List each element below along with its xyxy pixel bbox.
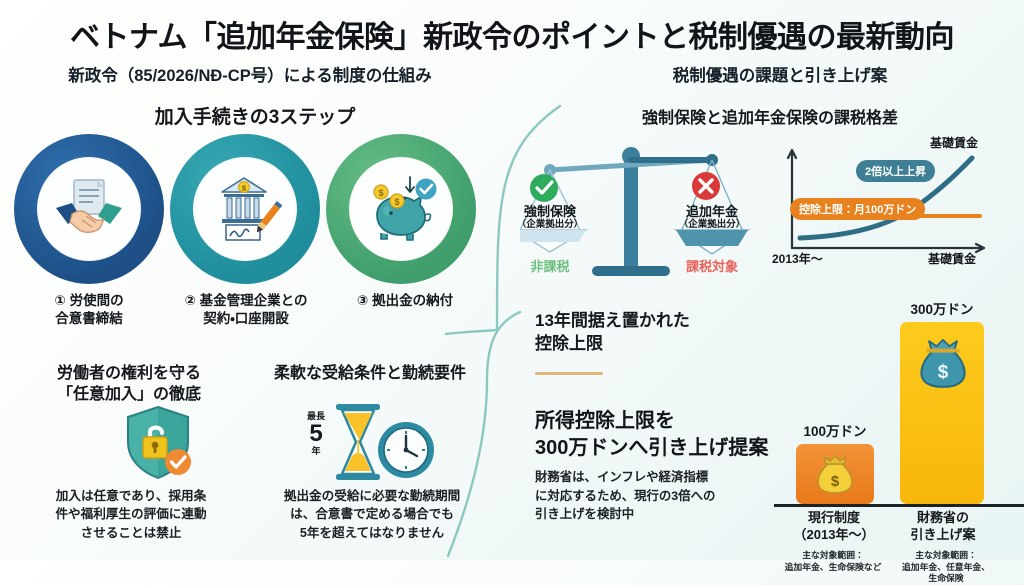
bar-note-current: 主な対象範囲： 追加年金、生命保険など bbox=[772, 550, 894, 573]
hourglass-clock-icon-wrap: 最長 5 年 bbox=[300, 400, 450, 491]
svg-text:$: $ bbox=[938, 362, 949, 383]
bar-value-proposal: 300万ドン bbox=[890, 298, 994, 318]
bar-category-proposal-line1: 財務省の bbox=[888, 510, 998, 527]
scale-left-subtitle: （企業拠出分） bbox=[510, 220, 590, 231]
scale-right-title: 追加年金 bbox=[672, 205, 752, 220]
headline-rule bbox=[535, 372, 603, 375]
scale-right-subtitle: （企業拠出分） bbox=[672, 220, 752, 231]
x-axis-start-label: 2013年〜 bbox=[772, 250, 823, 267]
left-section-heading: 新政令（85/2026/NĐ-CP号）による制度の仕組み bbox=[20, 62, 480, 86]
shield-unlock-check-icon bbox=[120, 404, 204, 486]
bar-note-proposal-line3: 生命保険 bbox=[886, 573, 1006, 585]
deduction-cap-headline-line2: 控除上限 bbox=[535, 333, 815, 356]
step-caption-3-line1: ③ 拠出金の納付 bbox=[322, 292, 488, 310]
proposal-body: 財務省は、インフレや経済指標 に対応するため、現行の3倍への 引き上げを検討中 bbox=[535, 468, 803, 524]
step-caption-2: ② 基金管理企業との 契約・口座開設 bbox=[156, 292, 336, 328]
deduction-cap-badge: 控除上限：月100万ドン bbox=[790, 198, 925, 220]
step-circle-2: $ bbox=[170, 134, 320, 284]
step-caption-1-line2: 合意書締結 bbox=[0, 310, 178, 328]
shield-unlock-check-icon-wrap bbox=[120, 404, 204, 491]
svg-text:$: $ bbox=[831, 473, 840, 490]
step-icon-2-wrap: $ bbox=[193, 157, 297, 261]
proposal-body-line2: に対応するため、現行の3倍への bbox=[535, 487, 803, 506]
bar-category-current-line1: 現行制度 bbox=[780, 510, 888, 527]
card-1-heading: 労働者の権利を守る 「任意加入」の徹底 bbox=[18, 364, 240, 406]
max-years-badge-unit: 年 bbox=[298, 447, 334, 456]
bar-category-proposal: 財務省の 引き上げ案 bbox=[888, 510, 998, 544]
curve-end-label: 基礎賃金 bbox=[930, 134, 978, 151]
step-caption-3: ③ 拠出金の納付 bbox=[322, 292, 488, 310]
bar-chart-baseline bbox=[774, 504, 1024, 507]
step-caption-1: ① 労使間の 合意書締結 bbox=[0, 292, 178, 328]
money-bag-icon-small: $ bbox=[813, 453, 857, 497]
proposal-body-line3: 引き上げを検討中 bbox=[535, 505, 803, 524]
bar-proposal: $ bbox=[900, 322, 984, 504]
step-circle-1 bbox=[14, 134, 164, 284]
svg-text:$: $ bbox=[378, 188, 383, 198]
max-years-badge-number: 5 bbox=[298, 422, 334, 446]
deduction-cap-headline: 13年間据え置かれた 控除上限 bbox=[535, 310, 815, 356]
scale-right-tax-label: 課税対象 bbox=[672, 256, 752, 275]
line-chart: 控除上限：月100万ドン 2倍以上上昇 基礎賃金 2013年〜 基礎賃金 bbox=[770, 138, 1016, 271]
piggybank-coins-check-icon: $ $ bbox=[363, 171, 439, 247]
step-caption-2-line2: 契約・口座開設 bbox=[156, 310, 336, 328]
step-caption-2-line1: ② 基金管理企業との bbox=[156, 292, 336, 310]
bar-note-proposal: 主な対象範囲： 追加年金、任意年金、 生命保険 bbox=[886, 550, 1006, 585]
svg-text:$: $ bbox=[394, 197, 399, 207]
card-1-heading-line2: 「任意加入」の徹底 bbox=[18, 385, 240, 406]
steps-title: 加入手続きの3ステップ bbox=[20, 102, 490, 129]
card-2-heading: 柔軟な受給条件と勤続要件 bbox=[248, 364, 492, 385]
growth-badge: 2倍以上上昇 bbox=[856, 160, 935, 182]
card-1-body-line1: 加入は任意であり、採用条 bbox=[24, 487, 238, 505]
scale-right-pan-label: 追加年金 （企業拠出分） bbox=[672, 205, 752, 231]
step-caption-1-line1: ① 労使間の bbox=[0, 292, 178, 310]
card-2-heading-line1: 柔軟な受給条件と勤続要件 bbox=[248, 364, 492, 385]
scale-left-tax-label: 非課税 bbox=[510, 256, 590, 275]
bar-category-current: 現行制度 （2013年〜） bbox=[780, 510, 888, 544]
right-section-heading: 税制優遇の課題と引き上げ案 bbox=[560, 62, 1000, 86]
bar-note-proposal-line2: 追加年金、任意年金、 bbox=[886, 562, 1006, 574]
bar-category-proposal-line2: 引き上げ案 bbox=[888, 527, 998, 544]
handshake-document-icon bbox=[52, 172, 126, 246]
card-2-body-line2: は、合意書で定める場合でも bbox=[250, 505, 494, 523]
proposal-body-line1: 財務省は、インフレや経済指標 bbox=[535, 468, 803, 487]
bar-category-current-line2: （2013年〜） bbox=[780, 527, 888, 544]
page-title: ベトナム「追加年金保険」新政令のポイントと税制優遇の最新動向 bbox=[0, 12, 1024, 56]
x-axis-label: 基礎賃金 bbox=[928, 250, 976, 267]
bar-note-current-line2: 追加年金、生命保険など bbox=[772, 562, 894, 574]
card-1-body: 加入は任意であり、採用条 件や福利厚生の評価に連動 させることは禁止 bbox=[24, 487, 238, 542]
bar-chart: $ $ 100万ドン 300万ドン 現行制度 （2013年〜） 財務省の 引き上… bbox=[782, 296, 1024, 560]
deduction-cap-headline-line1: 13年間据え置かれた bbox=[535, 310, 815, 333]
scale-left-title: 強制保険 bbox=[510, 205, 590, 220]
step-icon-1-wrap bbox=[37, 157, 141, 261]
card-2-body-line1: 拠出金の受給に必要な勤続期間 bbox=[250, 487, 494, 505]
scale-left-pan-label: 強制保険 （企業拠出分） bbox=[510, 205, 590, 231]
bar-value-current: 100万ドン bbox=[786, 420, 884, 440]
balance-scale-diagram: 強制保険 （企業拠出分） 追加年金 （企業拠出分） 非課税 課税対象 bbox=[520, 130, 760, 295]
step-icon-3-wrap: $ $ bbox=[349, 157, 453, 261]
max-years-badge: 最長 5 年 bbox=[298, 412, 334, 456]
step-circle-3: $ $ bbox=[326, 134, 476, 284]
card-2-body: 拠出金の受給に必要な勤続期間 は、合意書で定める場合でも 5年を超えてはなりませ… bbox=[250, 487, 494, 542]
card-1-heading-line1: 労働者の権利を守る bbox=[18, 364, 240, 385]
money-bag-icon-large: $ bbox=[915, 336, 971, 392]
scale-title: 強制保険と追加年金保険の課税格差 bbox=[540, 104, 1000, 128]
bar-current: $ bbox=[796, 444, 874, 504]
card-1-body-line3: させることは禁止 bbox=[24, 524, 238, 542]
bank-contract-pen-icon: $ bbox=[208, 172, 282, 246]
card-1-body-line2: 件や福利厚生の評価に連動 bbox=[24, 505, 238, 523]
card-2-body-line3: 5年を超えてはなりません bbox=[250, 524, 494, 542]
infographic-canvas: ベトナム「追加年金保険」新政令のポイントと税制優遇の最新動向 新政令（85/20… bbox=[0, 0, 1024, 560]
